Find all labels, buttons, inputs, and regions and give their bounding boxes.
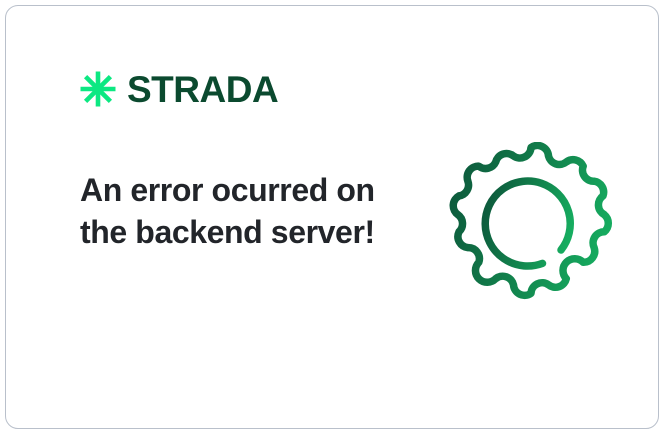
gear-cog-icon	[448, 142, 614, 308]
error-message: An error ocurred on the backend server!	[80, 169, 380, 253]
brand-logo: STRADA	[78, 69, 278, 109]
error-card: STRADA An error ocurred on the backend s…	[5, 5, 659, 429]
asterisk-star-icon	[78, 69, 118, 109]
brand-wordmark: STRADA	[127, 71, 278, 108]
